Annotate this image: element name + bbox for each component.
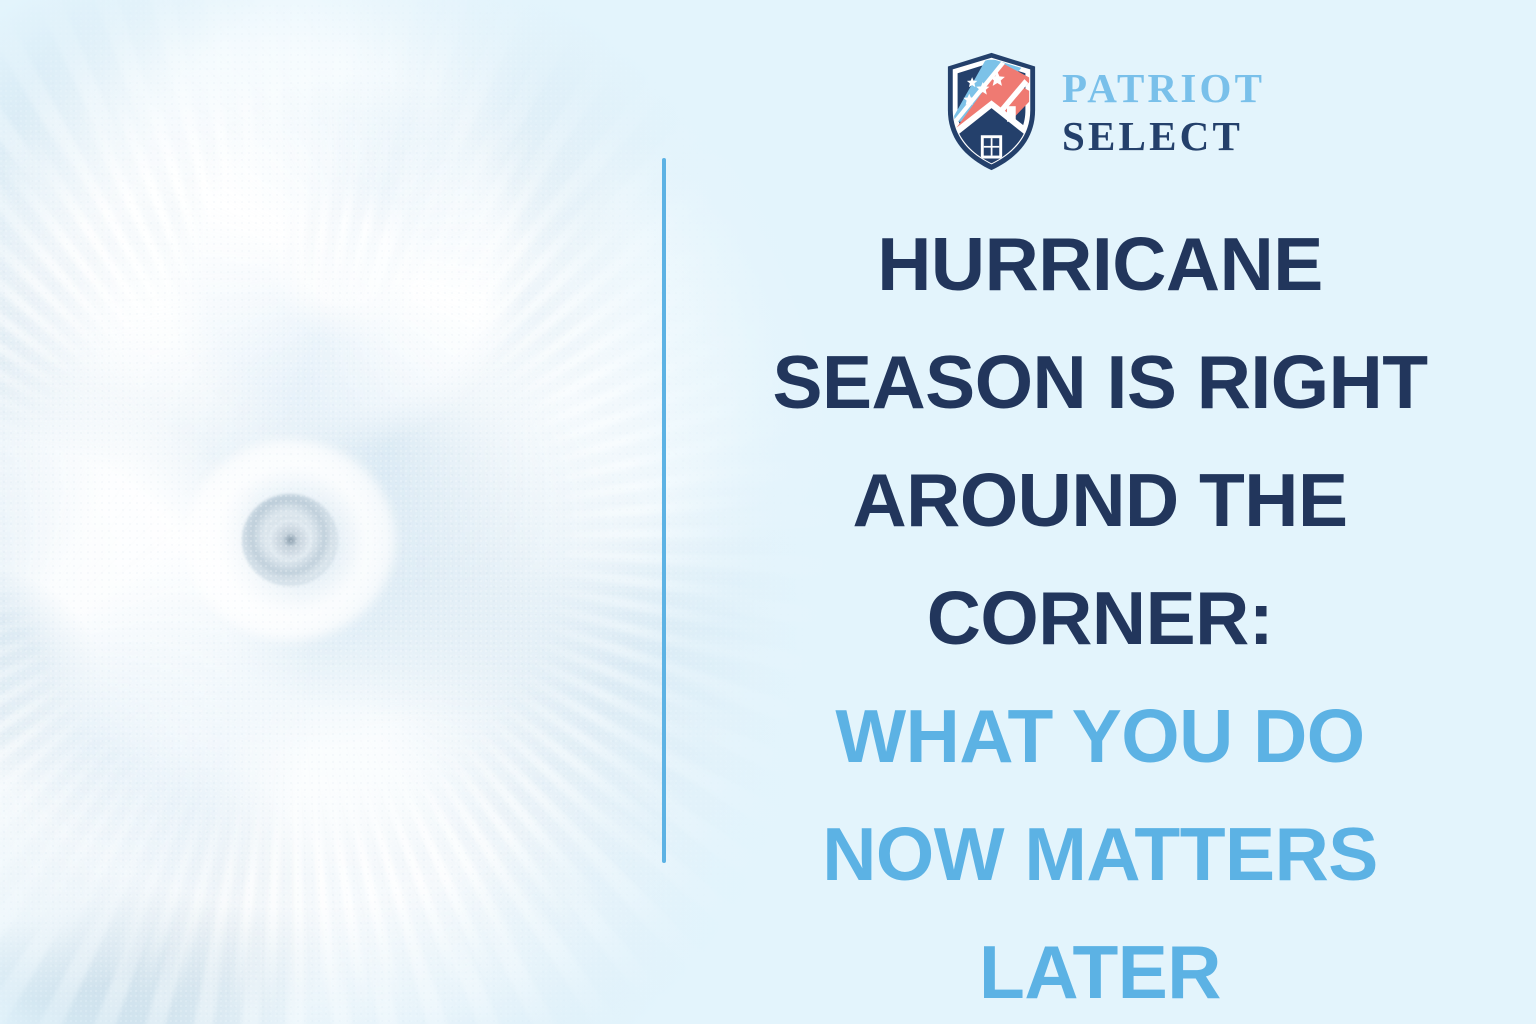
hurricane-season-banner: PATRIOT SELECT HURRICANE SEASON IS RIGHT…: [0, 0, 1536, 1024]
headline-line-2: SEASON IS RIGHT: [700, 323, 1500, 441]
storm-eye-core: [284, 534, 297, 546]
headline: HURRICANE SEASON IS RIGHT AROUND THE COR…: [700, 205, 1500, 1024]
logo-word-patriot: PATRIOT: [1062, 68, 1265, 109]
headline-line-6: NOW MATTERS: [700, 795, 1500, 913]
brand-logo[interactable]: PATRIOT SELECT: [943, 47, 1248, 177]
headline-line-4: CORNER:: [700, 559, 1500, 677]
logo-wordmark: PATRIOT SELECT: [1062, 68, 1265, 157]
headline-line-5: WHAT YOU DO: [700, 677, 1500, 795]
patriot-select-shield-icon: [943, 50, 1040, 174]
logo-word-select: SELECT: [1062, 116, 1265, 157]
vertical-accent-divider: [662, 158, 666, 863]
headline-line-7: LATER: [700, 913, 1500, 1024]
headline-line-3: AROUND THE: [700, 441, 1500, 559]
headline-line-1: HURRICANE: [700, 205, 1500, 323]
